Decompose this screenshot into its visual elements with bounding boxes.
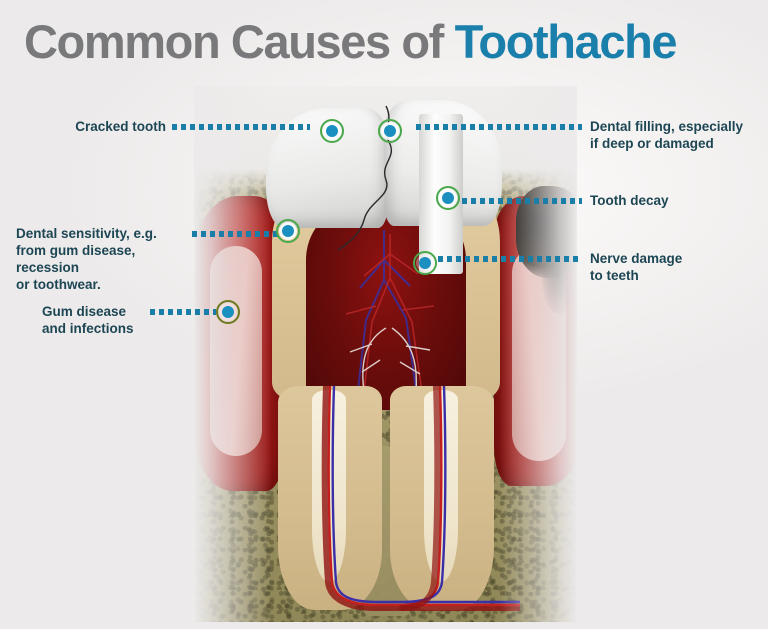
callout-label-dental-filling: Dental filling, especially if deep or da… (590, 118, 768, 152)
enamel-crown (266, 94, 498, 226)
callout-label-tooth-decay: Tooth decay (590, 192, 768, 209)
page-title-primary: Common Causes of (24, 15, 455, 68)
marker-dental-filling[interactable] (378, 119, 402, 143)
tooth-decay-lesion-lower (542, 244, 576, 314)
callout-label-dental-sensitivity: Dental sensitivity, e.g. from gum diseas… (16, 225, 186, 293)
callout-leader-dental-sensitivity (192, 231, 278, 237)
page-title: Common Causes of Toothache (24, 13, 676, 71)
marker-cracked-tooth[interactable] (320, 119, 344, 143)
callout-leader-dental-filling (416, 124, 582, 130)
marker-gum-disease[interactable] (216, 300, 240, 324)
marker-tooth-decay[interactable] (436, 186, 460, 210)
callout-leader-cracked-tooth (172, 124, 310, 130)
callout-label-nerve-damage: Nerve damage to teeth (590, 250, 768, 284)
callout-leader-nerve-damage (438, 256, 582, 262)
title-bar: Common Causes of Toothache (0, 0, 768, 86)
tooth-cross-section-illustration (194, 86, 577, 622)
infographic-root: Common Causes of Toothache (0, 0, 768, 629)
callout-label-cracked-tooth: Cracked tooth (0, 118, 166, 135)
callout-leader-tooth-decay (462, 198, 582, 204)
marker-nerve-damage[interactable] (413, 251, 437, 275)
root-nerve-vessels-icon (254, 386, 520, 622)
marker-dental-sensitivity[interactable] (276, 219, 300, 243)
tooth-roots (254, 386, 520, 622)
callout-leader-gum-disease (150, 309, 216, 315)
page-title-accent: Toothache (455, 15, 677, 68)
